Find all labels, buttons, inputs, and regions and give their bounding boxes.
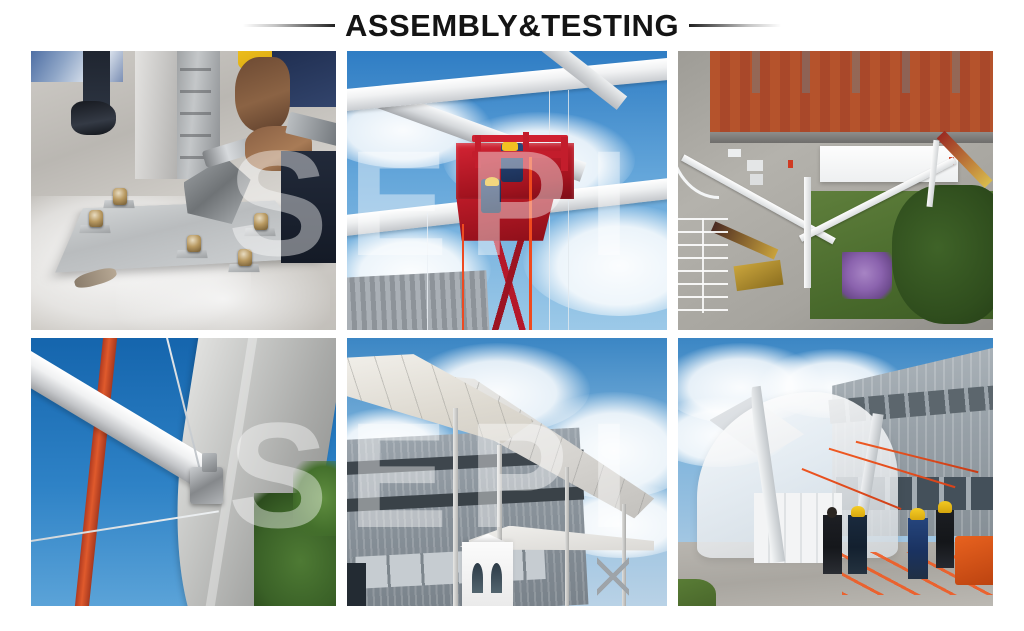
gradient-rule-left-icon bbox=[243, 24, 335, 27]
loading-bay-opening bbox=[347, 563, 366, 606]
anchor-bolt-5 bbox=[254, 213, 268, 230]
shrub-mass bbox=[892, 185, 993, 325]
orange-rope-2 bbox=[462, 224, 464, 330]
photo-arch-tent-tensioning bbox=[678, 338, 993, 606]
photo-cell-3[interactable]: Aerial drone view of terracotta roof war… bbox=[678, 51, 993, 330]
assembly-testing-page: ASSEMBLY&TESTING bbox=[0, 0, 1024, 631]
anchor-bolt-3 bbox=[187, 235, 201, 252]
roof-skylight-strips bbox=[710, 51, 994, 93]
photo-cell-2[interactable]: Red scissor lift raising workers to inst… bbox=[347, 51, 667, 330]
site-crate-2 bbox=[750, 174, 763, 185]
lift-platform-lower bbox=[456, 193, 555, 240]
worker-d-hard-hat-icon bbox=[938, 501, 952, 512]
site-crate-1 bbox=[747, 160, 763, 171]
worker-a-body bbox=[823, 515, 842, 574]
guard-rail-mid bbox=[472, 151, 568, 157]
worker-c-hard-hat-icon bbox=[910, 508, 924, 520]
hard-hat-1 bbox=[502, 140, 518, 151]
site-crate-3 bbox=[728, 149, 741, 157]
photo-base-plate-bolting bbox=[31, 51, 336, 330]
worker-leg-right bbox=[281, 151, 336, 263]
canopy-column-3 bbox=[565, 467, 569, 606]
photo-gallery-grid: Workers bolting a steel column base plat… bbox=[31, 51, 993, 606]
anchor-bolt-2 bbox=[113, 188, 127, 205]
anchor-bolt-1 bbox=[89, 210, 103, 227]
red-marker-1 bbox=[788, 160, 792, 168]
steel-column-front bbox=[135, 51, 181, 179]
cable-clamp bbox=[202, 453, 217, 472]
arched-window-2 bbox=[491, 563, 502, 592]
photo-cell-5[interactable]: Erected canopy structure beside industri… bbox=[347, 338, 667, 606]
photo-cell-6[interactable]: Curved arch tent structure with workers … bbox=[678, 338, 993, 606]
white-kiosk bbox=[462, 542, 513, 606]
grass-edge bbox=[678, 579, 716, 606]
purple-flowers bbox=[842, 252, 892, 299]
gradient-rule-right-icon bbox=[689, 24, 781, 27]
arched-window-1 bbox=[472, 563, 483, 592]
guy-wire-3 bbox=[427, 213, 428, 330]
page-title: ASSEMBLY&TESTING bbox=[345, 10, 679, 41]
safety-boot bbox=[71, 101, 117, 134]
worker-c-body bbox=[908, 518, 928, 580]
foliage-upper-right bbox=[293, 461, 336, 536]
photo-aerial-site-overview bbox=[678, 51, 993, 330]
guy-wire-2 bbox=[568, 90, 569, 330]
rail-post-1 bbox=[475, 135, 481, 168]
photo-arch-joint-closeup bbox=[31, 338, 336, 606]
worker-b-body bbox=[848, 515, 867, 574]
photo-cell-1[interactable]: Workers bolting a steel column base plat… bbox=[31, 51, 336, 330]
anchor-bolt-4 bbox=[238, 249, 252, 266]
canopy-column-1 bbox=[453, 408, 458, 606]
cable-tensioner-fitting bbox=[190, 467, 224, 505]
guard-rail-top bbox=[472, 135, 568, 142]
rail-post-3 bbox=[561, 137, 567, 170]
orange-rope-1 bbox=[529, 157, 532, 330]
photo-cell-4[interactable]: Close-up of curved steel arch beam joint… bbox=[31, 338, 336, 606]
page-header: ASSEMBLY&TESTING bbox=[0, 0, 1024, 50]
photo-canopy-erected bbox=[347, 338, 667, 606]
worker-hand-upper bbox=[235, 57, 290, 132]
orange-equipment bbox=[955, 536, 993, 584]
photo-scissor-lift-beam-install bbox=[347, 51, 667, 330]
white-frame-member-3 bbox=[804, 177, 811, 289]
column-bolt-row bbox=[180, 68, 211, 163]
worker-d-body bbox=[936, 510, 954, 569]
worker-b-hard-hat-icon bbox=[851, 506, 865, 518]
cross-bracing bbox=[597, 552, 629, 600]
hard-hat-2 bbox=[485, 177, 499, 187]
steel-rack-vertical bbox=[678, 218, 728, 313]
